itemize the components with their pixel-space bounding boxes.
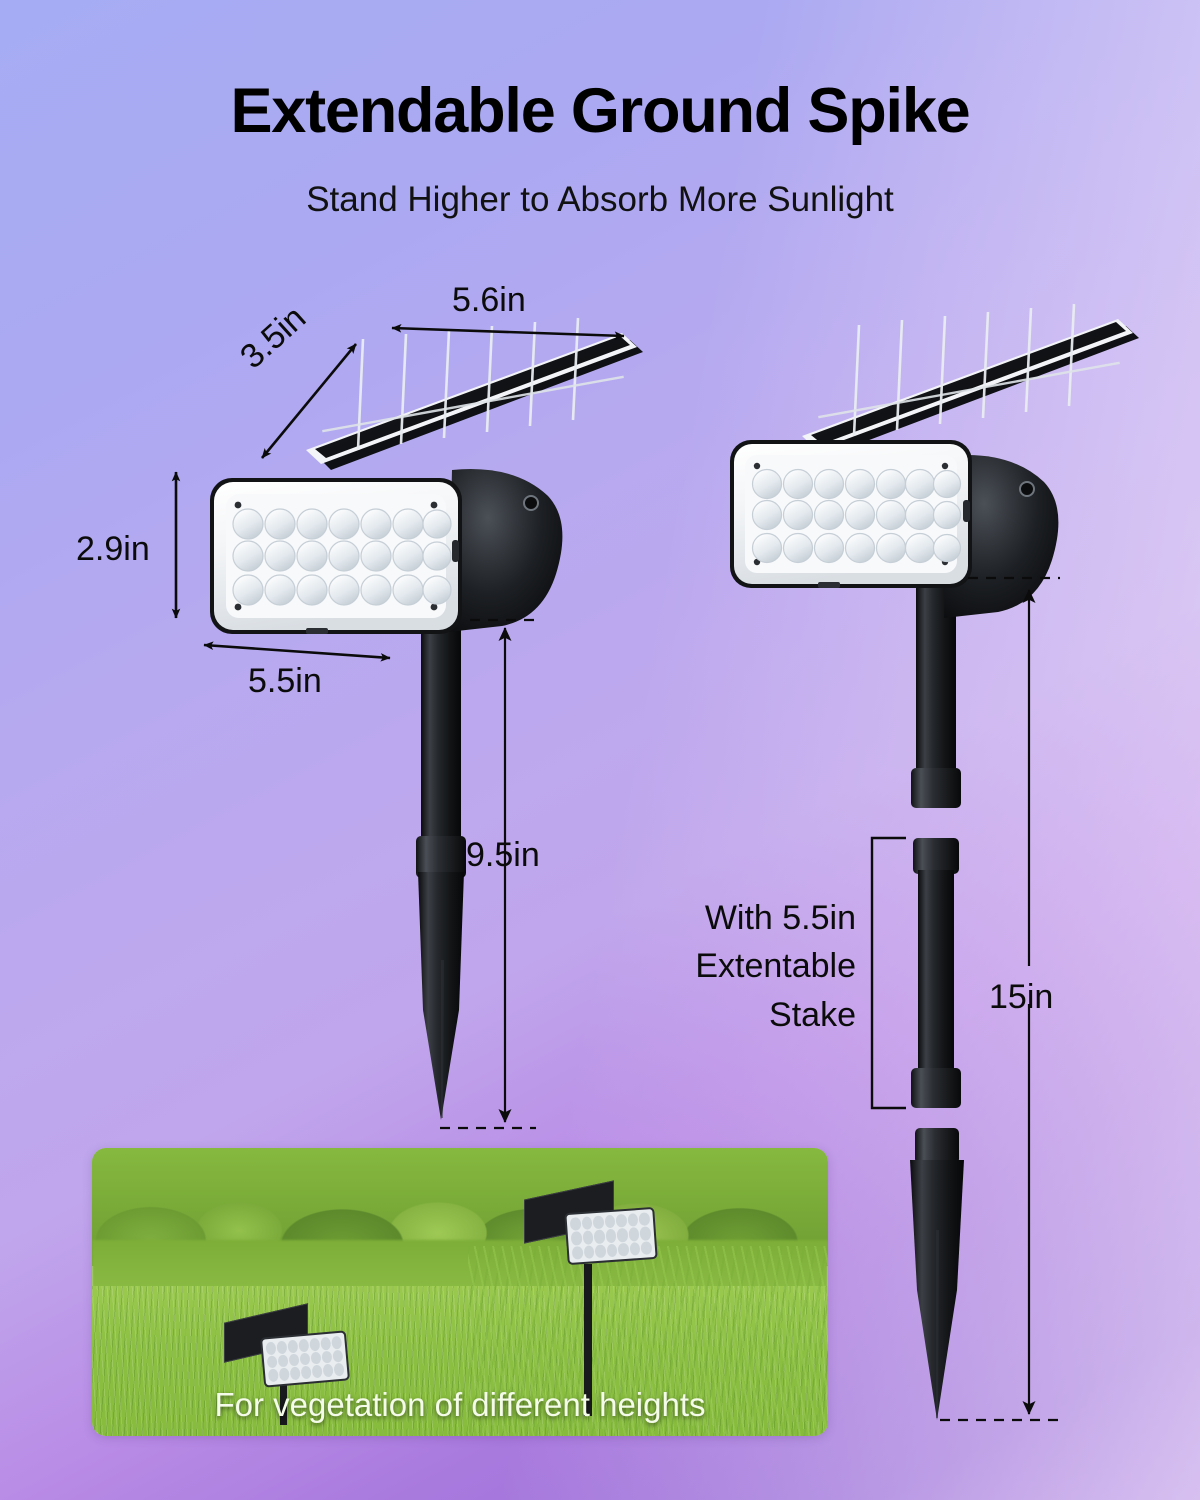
dimline-panel-width bbox=[392, 328, 624, 336]
dimension-annotations bbox=[0, 0, 1200, 1500]
label-head-height: 2.9in bbox=[76, 530, 150, 569]
page-title: Extendable Ground Spike bbox=[0, 78, 1200, 144]
stake-note-line-3: Stake bbox=[628, 991, 856, 1039]
label-panel-width: 5.6in bbox=[452, 281, 526, 320]
label-height-extended: 15in bbox=[989, 978, 1053, 1017]
dimline-head-width bbox=[204, 645, 390, 658]
stake-note-line-2: Extentable bbox=[628, 942, 856, 990]
page-subtitle: Stand Higher to Absorb More Sunlight bbox=[0, 180, 1200, 220]
bracket-extendable-stake bbox=[872, 838, 906, 1108]
infographic-canvas: Extendable Ground Spike Stand Higher to … bbox=[0, 0, 1200, 1500]
stake-note-line-1: With 5.5in bbox=[628, 894, 856, 942]
label-head-width: 5.5in bbox=[248, 662, 322, 701]
label-height-retracted: 9.5in bbox=[466, 836, 540, 875]
extendable-stake-note: With 5.5in Extentable Stake bbox=[628, 894, 856, 1039]
